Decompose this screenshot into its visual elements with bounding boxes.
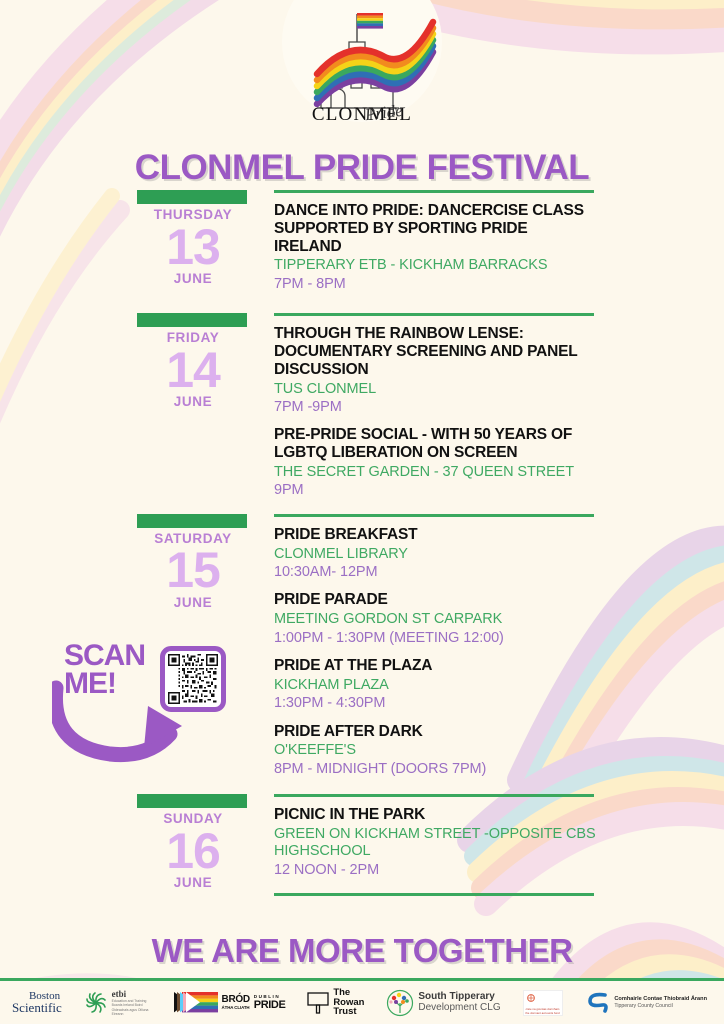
day-divider [274,794,594,797]
date-column: SATURDAY 15 JUNE [137,514,249,610]
sponsor-line-2: Scientific [12,1002,62,1014]
sponsor-name: etbi [112,989,152,999]
sponsor-etbi: etbi Education and Training Boards Irela… [84,989,152,1016]
events-column: PRIDE BREAKFAST CLONMEL LIBRARY 10:30AM-… [274,517,724,778]
event-title: PRIDE BREAKFAST [274,526,598,544]
day-block-sunday: SUNDAY 16 JUNE PICNIC IN THE PARK GREEN … [0,794,724,896]
sponsor-line-1: South Tipperary [418,992,500,1003]
event-time: 8PM - MIDNIGHT (DOORS 7PM) [274,761,598,778]
event-time: 12 NOON - 2PM [274,862,598,879]
sponsor-tipperary-county-council: Comhairle Contae Thiobraid Árann Tippera… [584,990,707,1016]
colorful-tree-icon [386,989,414,1017]
sponsor-dormant-accounts-fund: ciste na gcuntas dormhain the dormant ac… [523,990,563,1016]
event-item: DANCE INTO PRIDE: DANCERCISE CLASS SUPPO… [274,202,598,293]
event-venue: TUS CLONMEL [274,381,598,398]
poster: CLONMEL Pride CLONMEL PRIDE FESTIVAL THU… [0,0,724,1024]
sponsor-subtitle: ÁTHA CLIATH [222,1005,250,1010]
event-item: PRIDE AFTER DARK O'KEEFFE'S 8PM - MIDNIG… [274,723,598,779]
event-title: DANCE INTO PRIDE: DANCERCISE CLASS SUPPO… [274,202,598,255]
sponsor-name: BRÓD [222,995,250,1005]
event-title: PRIDE AT THE PLAZA [274,657,598,675]
event-time: 9PM [274,482,598,499]
etbi-swirl-icon [84,991,108,1015]
page-title: CLONMEL PRIDE FESTIVAL [0,148,724,188]
day-divider [274,514,594,517]
council-swirl-icon [584,990,610,1016]
day-block-thursday: THURSDAY 13 JUNE DANCE INTO PRIDE: DANCE… [0,190,724,313]
schedule-list: THURSDAY 13 JUNE DANCE INTO PRIDE: DANCE… [0,190,724,896]
event-time: 1:30PM - 4:30PM [274,695,598,712]
event-item: PICNIC IN THE PARK GREEN ON KICKHAM STRE… [274,806,598,879]
sponsor-footer: Boston Scientific etbi Education and Tra… [0,981,724,1024]
day-divider [274,190,594,193]
month-label: JUNE [137,395,249,409]
day-divider-bottom [274,893,594,896]
clonmel-pride-logo: CLONMEL Pride [287,8,437,126]
date-column: THURSDAY 13 JUNE [137,190,249,286]
sponsor-line-1: Comhairle Contae Thiobraid Árann [614,996,707,1003]
event-time: 1:00PM - 1:30PM (MEETING 12:00) [274,630,598,647]
month-label: JUNE [137,876,249,890]
progress-pride-flag-icon [174,990,218,1016]
event-time: 7PM -9PM [274,399,598,416]
scan-line-2: ME! [64,670,159,698]
event-item: PRIDE PARADE MEETING GORDON ST CARPARK 1… [274,591,598,647]
event-item: PRE-PRIDE SOCIAL - WITH 50 YEARS OF LGBT… [274,426,598,499]
event-item: THROUGH THE RAINBOW LENSE: DOCUMENTARY S… [274,325,598,416]
day-block-friday: FRIDAY 14 JUNE THROUGH THE RAINBOW LENSE… [0,313,724,514]
events-column: THROUGH THE RAINBOW LENSE: DOCUMENTARY S… [274,316,724,500]
event-title: PRIDE PARADE [274,591,598,609]
event-title: THROUGH THE RAINBOW LENSE: DOCUMENTARY S… [274,325,598,378]
qr-code[interactable] [160,646,226,712]
day-number: 16 [137,828,249,876]
sponsor-line-2: the dormant accounts fund [525,1012,559,1016]
sponsor-line-2: Tipperary County Council [614,1003,707,1010]
events-column: DANCE INTO PRIDE: DANCERCISE CLASS SUPPO… [274,193,724,293]
event-venue: TIPPERARY ETB - KICKHAM BARRACKS [274,257,598,274]
closing-slogan: WE ARE MORE TOGETHER [0,932,724,970]
event-title: PRIDE AFTER DARK [274,723,598,741]
event-time: 10:30AM- 12PM [274,564,598,581]
scan-me-block[interactable]: SCAN ME! [60,638,240,768]
day-divider [274,313,594,316]
event-title: PRE-PRIDE SOCIAL - WITH 50 YEARS OF LGBT… [274,426,598,462]
dormant-accounts-emblem-icon [525,994,537,1003]
sponsor-the-rowan-trust: The Rowan Trust [307,988,364,1017]
sponsor-dublin-pride: BRÓD ÁTHA CLIATH DUBLIN PRIDE [174,990,286,1016]
event-time: 7PM - 8PM [274,276,598,293]
event-venue: KICKHAM PLAZA [274,677,598,694]
day-number: 13 [137,224,249,272]
sponsor-subtitle: Education and Training Boards Ireland Bo… [112,999,152,1016]
event-item: PRIDE BREAKFAST CLONMEL LIBRARY 10:30AM-… [274,526,598,582]
sponsor-line-3: Trust [333,1007,364,1017]
day-number: 14 [137,347,249,395]
event-venue: CLONMEL LIBRARY [274,546,598,563]
sponsor-south-tipperary-development: South Tipperary Development CLG [386,989,500,1017]
event-venue: THE SECRET GARDEN - 37 QUEEN STREET [274,464,598,481]
date-column: SUNDAY 16 JUNE [137,794,249,890]
event-title: PICNIC IN THE PARK [274,806,598,824]
event-venue: GREEN ON KICKHAM STREET -OPPOSITE CBS HI… [274,826,598,861]
date-column: FRIDAY 14 JUNE [137,313,249,409]
sponsor-subtitle-2: PRIDE [254,999,286,1011]
day-number: 15 [137,547,249,595]
event-venue: O'KEEFFE'S [274,742,598,759]
month-label: JUNE [137,596,249,610]
event-venue: MEETING GORDON ST CARPARK [274,611,598,628]
scan-me-label: SCAN ME! [64,642,159,697]
rowan-tree-icon [307,991,329,1015]
event-item: PRIDE AT THE PLAZA KICKHAM PLAZA 1:30PM … [274,657,598,713]
month-label: JUNE [137,272,249,286]
scan-line-1: SCAN [64,642,159,670]
events-column: PICNIC IN THE PARK GREEN ON KICKHAM STRE… [274,797,724,879]
sponsor-boston-scientific: Boston Scientific [17,991,62,1014]
sponsor-line-2: Development CLG [418,1003,500,1014]
